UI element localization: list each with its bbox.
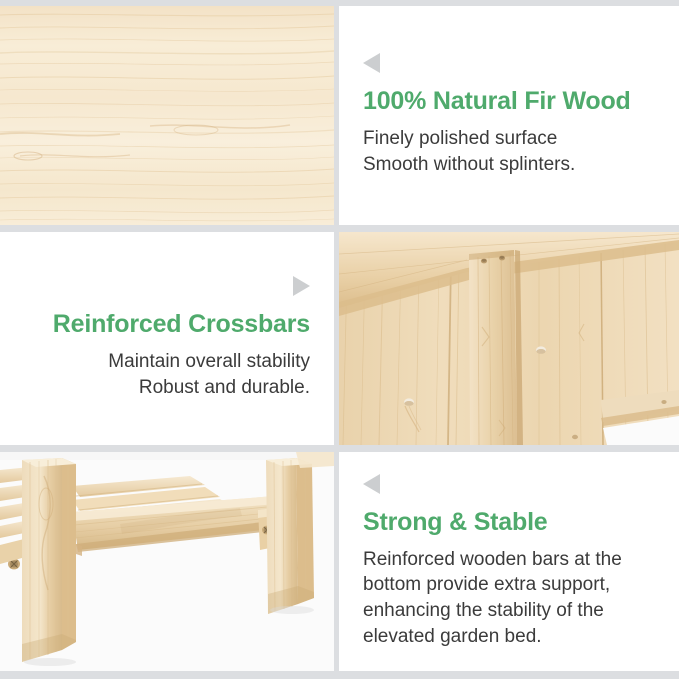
triangle-right-icon xyxy=(293,276,310,296)
feature-2-text-panel: Reinforced Crossbars Maintain overall st… xyxy=(0,232,334,445)
feature-3-image-cell xyxy=(0,452,334,671)
feature-1-image-cell xyxy=(0,6,334,225)
triangle-left-icon xyxy=(363,474,380,494)
feature-2-headline: Reinforced Crossbars xyxy=(53,310,310,339)
feature-3-text-cell: Strong & Stable Reinforced wooden bars a… xyxy=(339,452,679,671)
feature-grid: 100% Natural Fir Wood Finely polished su… xyxy=(0,6,679,671)
feature-2-body-line-2: Robust and durable. xyxy=(108,375,310,401)
feature-3-body-line-1: Reinforced wooden bars at the xyxy=(363,547,622,573)
feature-1-body-line-2: Smooth without splinters. xyxy=(363,152,575,178)
feature-3-body-line-4: elevated garden bed. xyxy=(363,624,622,650)
triangle-left-icon xyxy=(363,53,380,73)
feature-2-text-cell: Reinforced Crossbars Maintain overall st… xyxy=(0,232,334,445)
feature-2-image-cell xyxy=(339,232,679,445)
grid-gutter-horizontal-1 xyxy=(0,225,679,232)
feature-3-body-line-2: bottom provide extra support, xyxy=(363,572,622,598)
grid-gutter-horizontal-2 xyxy=(0,445,679,452)
feature-1-body: Finely polished surface Smooth without s… xyxy=(363,126,575,177)
feature-1-headline: 100% Natural Fir Wood xyxy=(363,87,631,116)
feature-1-body-line-1: Finely polished surface xyxy=(363,126,575,152)
feature-3-body: Reinforced wooden bars at the bottom pro… xyxy=(363,547,622,650)
feature-2-body: Maintain overall stability Robust and du… xyxy=(108,349,310,400)
feature-1-text-panel: 100% Natural Fir Wood Finely polished su… xyxy=(339,6,679,225)
feature-3-body-line-3: enhancing the stability of the xyxy=(363,598,622,624)
feature-3-headline: Strong & Stable xyxy=(363,508,548,537)
product-feature-infographic: 100% Natural Fir Wood Finely polished su… xyxy=(0,0,679,679)
elevated-bed-legs-photo xyxy=(0,452,334,671)
feature-3-text-panel: Strong & Stable Reinforced wooden bars a… xyxy=(339,452,679,671)
fir-wood-surface-photo xyxy=(0,6,334,225)
feature-2-body-line-1: Maintain overall stability xyxy=(108,349,310,375)
feature-1-text-cell: 100% Natural Fir Wood Finely polished su… xyxy=(339,6,679,225)
page-bottom-edge xyxy=(0,671,679,679)
crossbar-planks-photo xyxy=(339,232,679,445)
